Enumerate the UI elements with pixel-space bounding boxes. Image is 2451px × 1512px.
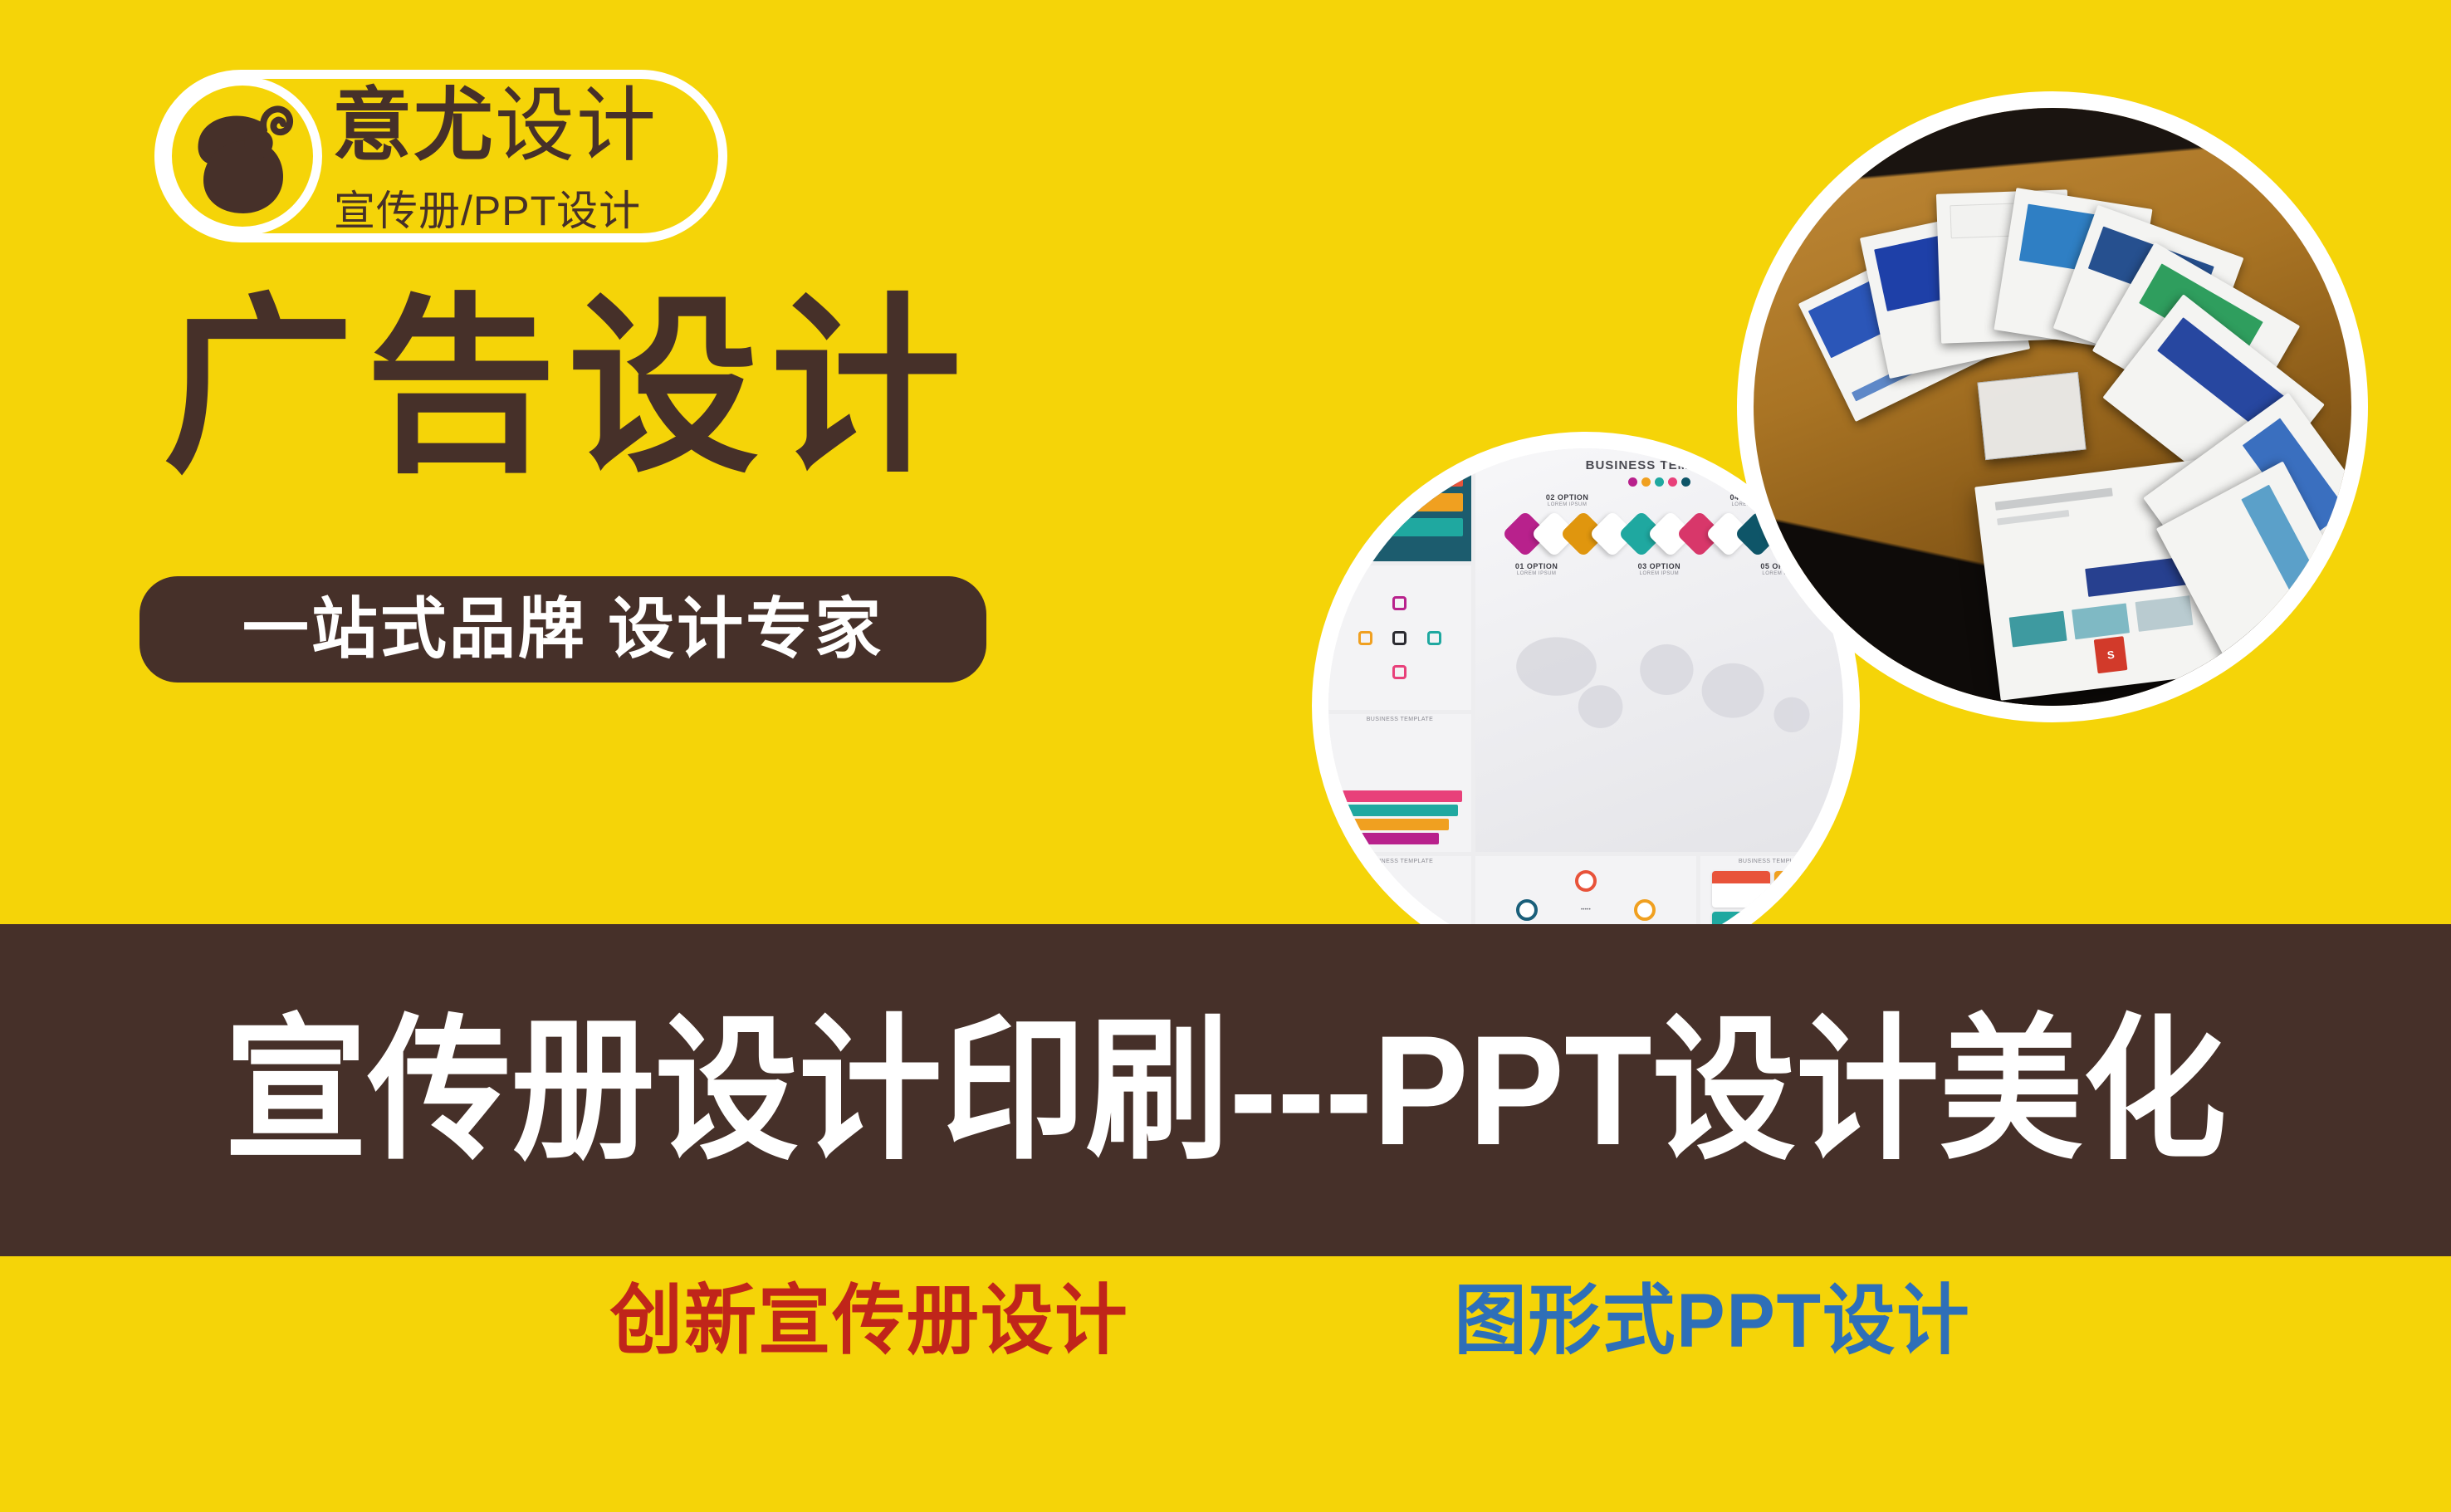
option-label: 03 OPTION LOREM IPSUM xyxy=(1638,562,1681,576)
logo-name-bold: 意尤 xyxy=(332,86,495,166)
thumb-header: BUSINESS TEMPLATE xyxy=(1700,856,1843,864)
logo-name: 意尤 设计 xyxy=(332,76,722,176)
option-label: 01 OPTION LOREM IPSUM xyxy=(1515,562,1558,576)
main-banner-text: 宣传册设计印刷---PPT设计美化 xyxy=(224,1012,2227,1168)
palette-dot xyxy=(1641,477,1651,487)
footer-label-brochure: 创新宣传册设计 xyxy=(609,1283,1128,1359)
palette-dot xyxy=(1628,477,1637,487)
palette-dot xyxy=(1681,477,1690,487)
company-stamp-icon: S xyxy=(2094,636,2127,673)
logo-mark-icon xyxy=(163,76,322,236)
palette-dots xyxy=(1628,477,1690,487)
logo-tagline: 宣传册/PPT设计 xyxy=(334,178,641,237)
footer-label-ppt: 图形式PPT设计 xyxy=(1454,1283,1970,1359)
thumb-header: BUSINESS TEMPLATE xyxy=(1328,856,1471,864)
step-card xyxy=(1774,871,1832,908)
brochure-photo-circle: S xyxy=(1737,91,2368,722)
thumb-dark-ribbon xyxy=(1328,448,1471,561)
acrylic-card-holder xyxy=(1977,372,2087,460)
ad-banner: 意尤 设计 宣传册/PPT设计 广告设计 一站式品牌 设计专家 BUSINESS… xyxy=(0,0,2451,1512)
palette-dot xyxy=(1668,477,1677,487)
subtitle-pill-label: 一站式品牌 设计专家 xyxy=(242,596,883,663)
thumb-header: BUSINESS TEMPLATE xyxy=(1328,714,1471,722)
page-title: 广告设计 xyxy=(163,292,973,483)
palette-dot xyxy=(1655,477,1664,487)
footer-labels: 创新宣传册设计 图形式PPT设计 xyxy=(0,1283,2451,1416)
thumb-x-grid-diagram xyxy=(1328,565,1471,710)
main-banner-band: 宣传册设计印刷---PPT设计美化 xyxy=(0,924,2451,1256)
logo-name-thin: 设计 xyxy=(495,86,658,167)
brochure-photo: S xyxy=(1754,108,2351,706)
step-card xyxy=(1712,871,1770,908)
hero-title: BUSINESS TEMPLATE xyxy=(1586,458,1734,472)
subtitle-pill: 一站式品牌 设计专家 xyxy=(139,576,986,683)
option-label: 02 OPTION LOREM IPSUM xyxy=(1546,493,1589,507)
thumb-funnel-diagram: BUSINESS TEMPLATE xyxy=(1328,714,1471,852)
